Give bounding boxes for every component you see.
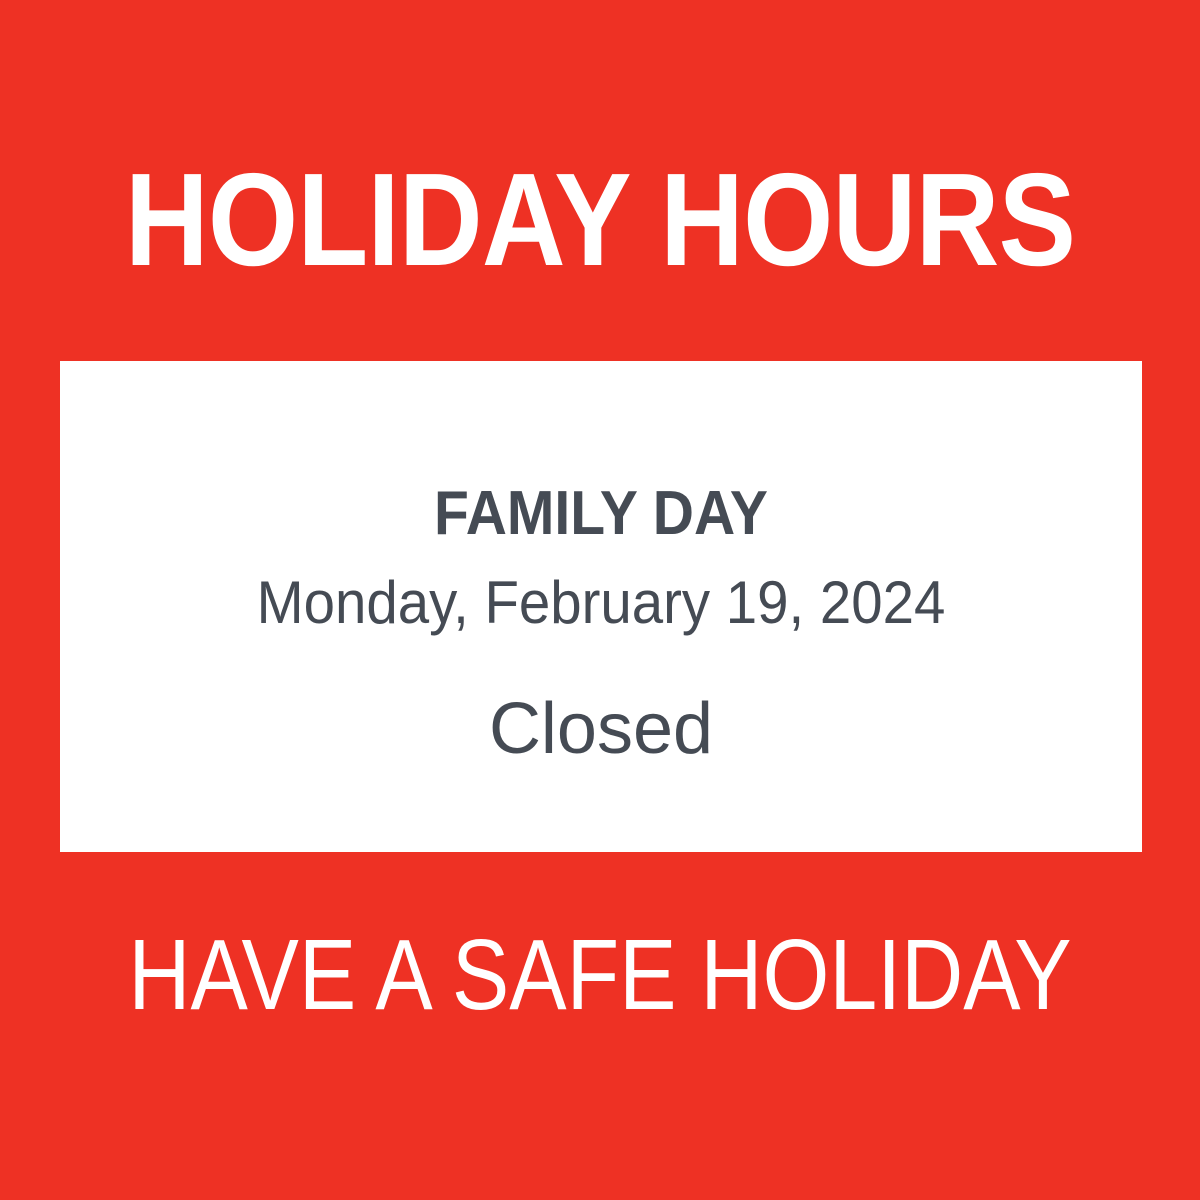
holiday-hours-sign: HOLIDAY HOURS FAMILY DAY Monday, Februar… xyxy=(0,0,1200,1200)
holiday-info-card: FAMILY DAY Monday, February 19, 2024 Clo… xyxy=(60,361,1142,852)
page-title: HOLIDAY HOURS xyxy=(72,150,1128,290)
holiday-info-card-body: FAMILY DAY Monday, February 19, 2024 Clo… xyxy=(60,361,1142,852)
holiday-status: Closed xyxy=(60,693,1142,765)
footer-message: HAVE A SAFE HOLIDAY xyxy=(84,915,1116,1035)
holiday-name: FAMILY DAY xyxy=(103,483,1098,545)
holiday-date: Monday, February 19, 2024 xyxy=(92,573,1109,633)
